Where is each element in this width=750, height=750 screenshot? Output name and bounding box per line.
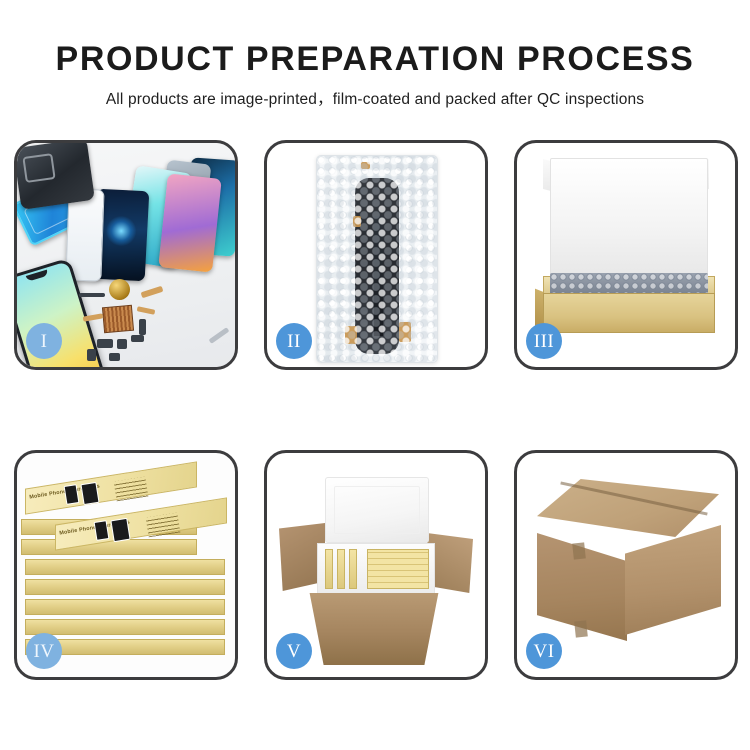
box-layer <box>25 619 225 635</box>
page-title: PRODUCT PREPARATION PROCESS <box>0 42 750 78</box>
step-badge-6: VI <box>526 633 562 669</box>
phone-screen-purple <box>158 173 222 272</box>
component-flex-strip <box>374 216 383 336</box>
speaker-component <box>109 279 130 300</box>
process-step-6: VI <box>514 450 738 680</box>
tape-tab <box>361 162 370 169</box>
inner-yellow-box <box>337 549 345 589</box>
step-badge-3: III <box>526 323 562 359</box>
small-part <box>131 335 144 342</box>
small-part <box>139 319 146 335</box>
step-badge-2: II <box>276 323 312 359</box>
phone-back-housing <box>17 143 95 210</box>
carton-right-face <box>625 525 721 635</box>
process-step-3: III <box>514 140 738 370</box>
page-subtitle: All products are image-printed，film-coat… <box>0 87 750 109</box>
process-step-2: II <box>264 140 488 370</box>
inner-yellow-box <box>325 549 333 589</box>
process-step-4: Mobile Phone Spare Parts Mobile Phone Sp… <box>14 450 238 680</box>
tape-tab <box>345 326 357 344</box>
carton-top-face <box>537 479 719 537</box>
process-step-1: I <box>14 140 238 370</box>
box-layer <box>25 559 225 575</box>
carton-tape-mark <box>572 542 586 559</box>
box-layer <box>25 579 225 595</box>
printed-screen-graphic <box>94 520 110 541</box>
inner-yellow-box-stack <box>367 549 429 589</box>
printed-screen-graphic <box>64 484 80 505</box>
step-badge-4: IV <box>26 633 62 669</box>
small-part <box>109 353 120 361</box>
printed-screen-graphic <box>110 518 130 542</box>
process-step-5: V <box>264 450 488 680</box>
printed-text-lines <box>114 477 149 502</box>
tape-tab <box>353 216 361 227</box>
white-box-lid <box>550 158 708 280</box>
printed-screen-graphic <box>80 482 99 505</box>
step-badge-1: I <box>26 323 62 359</box>
small-part <box>117 339 127 349</box>
carton-tape-mark <box>574 620 588 637</box>
box-layer <box>25 599 225 615</box>
small-part <box>79 293 105 297</box>
small-part <box>97 339 113 348</box>
carton-front-panel <box>304 593 444 665</box>
header: PRODUCT PREPARATION PROCESS All products… <box>0 0 750 109</box>
step-badge-5: V <box>276 633 312 669</box>
kraft-box-front <box>543 293 715 333</box>
bubble-wrap-bag <box>316 155 438 363</box>
inner-yellow-box <box>349 549 357 589</box>
tape-tab <box>399 322 411 342</box>
foam-box-lid <box>325 477 429 543</box>
small-part <box>87 349 96 361</box>
chip-grid-component <box>102 305 134 334</box>
product-preparation-infographic: PRODUCT PREPARATION PROCESS All products… <box>0 0 750 750</box>
process-step-grid: I II <box>14 140 738 680</box>
